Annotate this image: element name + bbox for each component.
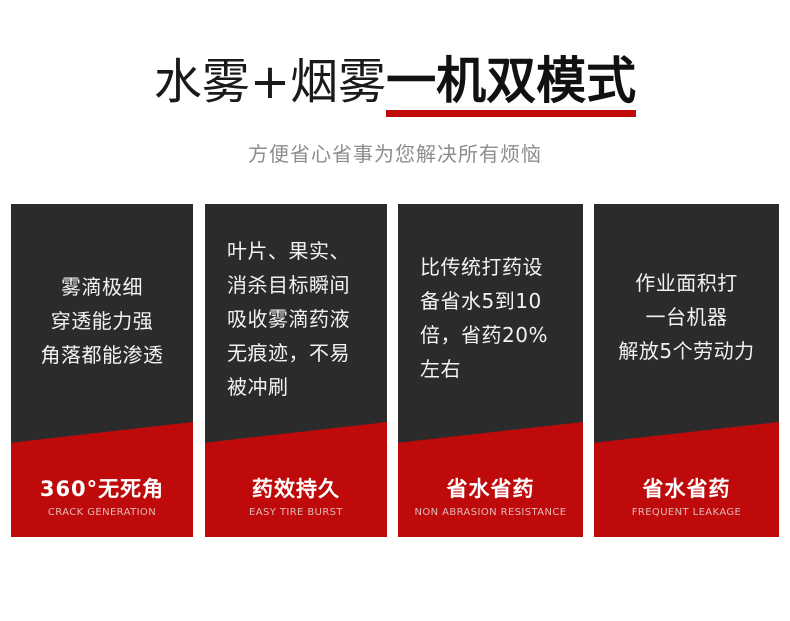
feature-card-footer: 360°无死角 CRACK GENERATION xyxy=(11,476,193,519)
feature-card-body: 叶片、果实、消杀目标瞬间吸收雾滴药液无痕迹，不易被冲刷 xyxy=(205,234,387,404)
feature-card-subtitle-en: NON ABRASION RESISTANCE xyxy=(398,507,583,519)
feature-card-list: 雾滴极细穿透能力强角落都能渗透 360°无死角 CRACK GENERATION… xyxy=(11,204,779,537)
feature-card: 比传统打药设备省水5到10倍，省药20%左右 省水省药 NON ABRASION… xyxy=(398,204,583,537)
feature-card-footer: 省水省药 FREQUENT LEAKAGE xyxy=(594,476,779,519)
feature-card-kicker: 360°无死角 xyxy=(11,476,193,502)
feature-card-kicker: 药效持久 xyxy=(205,476,387,502)
feature-card-footer: 药效持久 EASY TIRE BURST xyxy=(205,476,387,519)
feature-card-footer: 省水省药 NON ABRASION RESISTANCE xyxy=(398,476,583,519)
feature-card-subtitle-en: EASY TIRE BURST xyxy=(205,507,387,519)
title-underline-rule xyxy=(386,110,636,117)
page-title: 水雾+烟雾一机双模式 xyxy=(0,56,790,106)
feature-card-subtitle-en: FREQUENT LEAKAGE xyxy=(594,507,779,519)
feature-card-kicker: 省水省药 xyxy=(398,476,583,502)
feature-card-body: 雾滴极细穿透能力强角落都能渗透 xyxy=(11,270,193,372)
feature-card-body: 比传统打药设备省水5到10倍，省药20%左右 xyxy=(398,250,583,386)
feature-card: 作业面积打一台机器解放5个劳动力 省水省药 FREQUENT LEAKAGE xyxy=(594,204,779,537)
header-section: 水雾+烟雾一机双模式 方便省心省事为您解决所有烦恼 xyxy=(0,0,790,190)
page-title-plain: 水雾+烟雾 xyxy=(154,54,386,110)
feature-card-kicker: 省水省药 xyxy=(594,476,779,502)
feature-card: 叶片、果实、消杀目标瞬间吸收雾滴药液无痕迹，不易被冲刷 药效持久 EASY TI… xyxy=(205,204,387,537)
feature-card-body: 作业面积打一台机器解放5个劳动力 xyxy=(594,266,779,368)
promo-banner: 水雾+烟雾一机双模式 方便省心省事为您解决所有烦恼 雾滴极细穿透能力强角落都能渗… xyxy=(0,0,790,621)
page-title-accent: 一机双模式 xyxy=(386,52,636,110)
feature-card: 雾滴极细穿透能力强角落都能渗透 360°无死角 CRACK GENERATION xyxy=(11,204,193,537)
feature-card-subtitle-en: CRACK GENERATION xyxy=(11,507,193,519)
page-subtitle: 方便省心省事为您解决所有烦恼 xyxy=(0,140,790,168)
